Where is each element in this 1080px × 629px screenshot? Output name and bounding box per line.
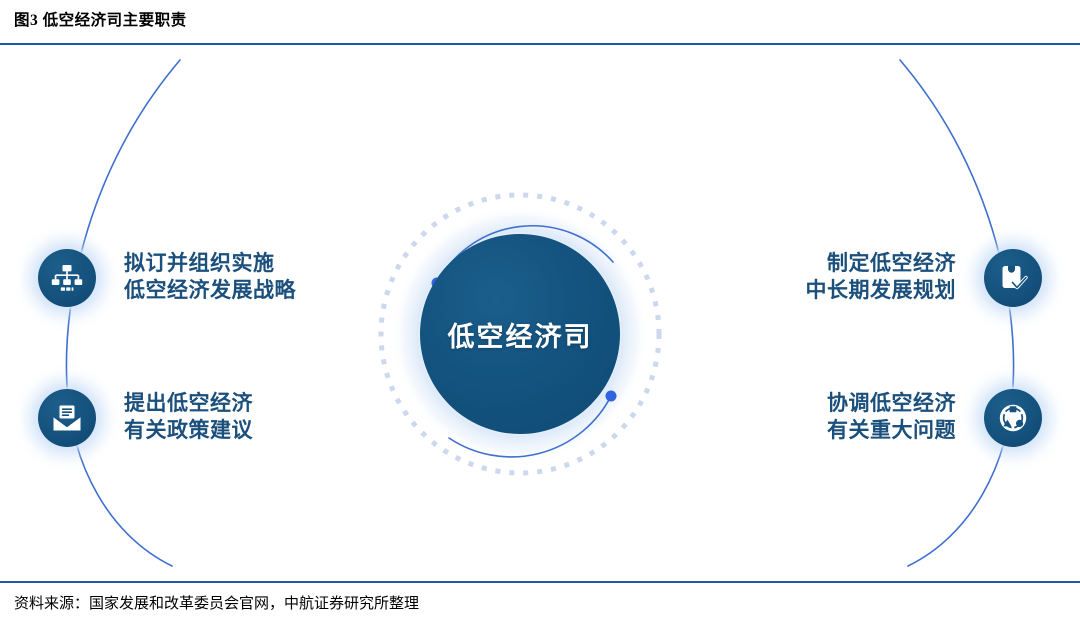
branch-bottom-right-line-2: 有关重大问题 — [827, 418, 956, 445]
branch-top-left[interactable]: 拟订并组织实施 低空经济发展战略 — [38, 249, 296, 307]
header-divider — [0, 43, 1080, 45]
org-chart-icon — [38, 249, 96, 307]
branch-top-right-line-1: 制定低空经济 — [806, 251, 957, 278]
footer-divider — [0, 581, 1080, 583]
envelope-document-icon — [38, 389, 96, 447]
branch-bottom-left-line-1: 提出低空经济 — [124, 391, 253, 418]
branch-top-right-line-2: 中长期发展规划 — [806, 278, 957, 305]
branch-bottom-right-label: 协调低空经济 有关重大问题 — [827, 391, 956, 445]
center-node[interactable]: 低空经济司 — [420, 234, 620, 434]
source-note: 资料来源：国家发展和改革委员会官网，中航证券研究所整理 — [14, 592, 419, 613]
branch-top-left-line-1: 拟订并组织实施 — [124, 251, 296, 278]
right-branch-arc — [900, 60, 1014, 566]
branch-bottom-left-line-2: 有关政策建议 — [124, 418, 253, 445]
branch-bottom-right-line-1: 协调低空经济 — [827, 391, 956, 418]
branch-top-right-label: 制定低空经济 中长期发展规划 — [806, 251, 957, 305]
center-label: 低空经济司 — [420, 234, 620, 434]
coordination-network-icon — [984, 389, 1042, 447]
branch-bottom-left[interactable]: 提出低空经济 有关政策建议 — [38, 389, 253, 447]
branch-top-left-label: 拟订并组织实施 低空经济发展战略 — [124, 251, 296, 305]
branch-bottom-right[interactable]: 协调低空经济 有关重大问题 — [827, 389, 1042, 447]
left-branch-arc — [66, 60, 180, 566]
branch-top-left-line-2: 低空经济发展战略 — [124, 278, 296, 305]
branch-top-right[interactable]: 制定低空经济 中长期发展规划 — [806, 249, 1043, 307]
clipboard-check-icon — [984, 249, 1042, 307]
figure-title: 图3 低空经济司主要职责 — [14, 8, 187, 30]
responsibilities-diagram: 低空经济司 拟订并组织实施 低空经济发展战略 — [0, 46, 1080, 580]
branch-bottom-left-label: 提出低空经济 有关政策建议 — [124, 391, 253, 445]
